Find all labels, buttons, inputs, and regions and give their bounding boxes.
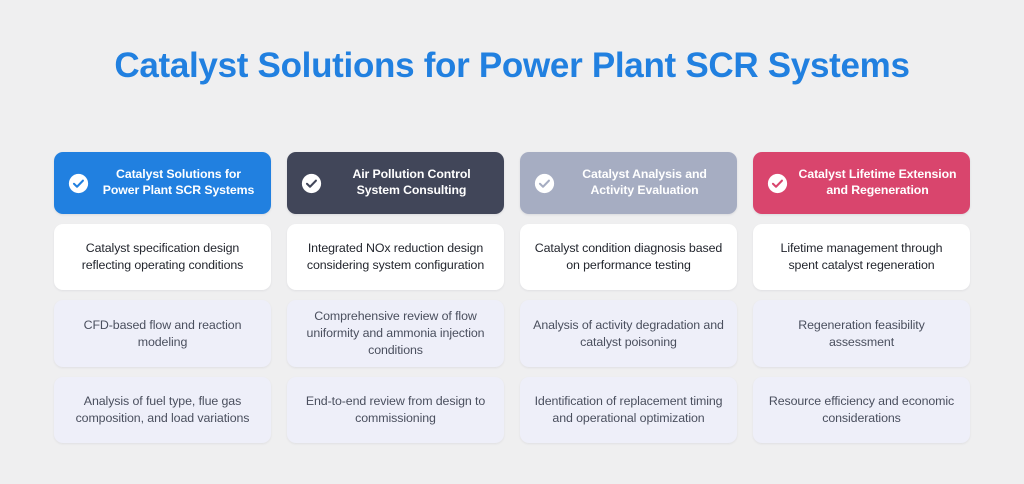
check-circle-icon xyxy=(767,173,788,194)
matrix-cell: Integrated NOx reduction design consider… xyxy=(287,224,504,290)
matrix-cell: Catalyst condition diagnosis based on pe… xyxy=(520,224,737,290)
matrix-cell: CFD-based flow and reaction modeling xyxy=(54,300,271,367)
check-circle-icon xyxy=(534,173,555,194)
column-header-label: Air Pollution Control System Consulting xyxy=(331,167,492,198)
matrix-cell: Catalyst specification design reflecting… xyxy=(54,224,271,290)
title-container: Catalyst Solutions for Power Plant SCR S… xyxy=(0,0,1024,86)
matrix-cell: Comprehensive review of flow uniformity … xyxy=(287,300,504,367)
column-header-lifetime-extension[interactable]: Catalyst Lifetime Extension and Regenera… xyxy=(753,152,970,214)
matrix-cell: Analysis of activity degradation and cat… xyxy=(520,300,737,367)
matrix-cell: Lifetime management through spent cataly… xyxy=(753,224,970,290)
column-header-label: Catalyst Lifetime Extension and Regenera… xyxy=(797,167,958,198)
matrix-cell: Regeneration feasibility assessment xyxy=(753,300,970,367)
page-title: Catalyst Solutions for Power Plant SCR S… xyxy=(0,47,1024,86)
column-header-label: Catalyst Analysis and Activity Evaluatio… xyxy=(564,167,725,198)
column-header-catalyst-analysis[interactable]: Catalyst Analysis and Activity Evaluatio… xyxy=(520,152,737,214)
matrix-cell: End-to-end review from design to commiss… xyxy=(287,377,504,443)
check-circle-icon xyxy=(301,173,322,194)
infographic-page: Catalyst Solutions for Power Plant SCR S… xyxy=(0,0,1024,484)
column-header-label: Catalyst Solutions for Power Plant SCR S… xyxy=(98,167,259,198)
column-header-air-pollution-control[interactable]: Air Pollution Control System Consulting xyxy=(287,152,504,214)
matrix-cell: Analysis of fuel type, flue gas composit… xyxy=(54,377,271,443)
column-header-catalyst-solutions[interactable]: Catalyst Solutions for Power Plant SCR S… xyxy=(54,152,271,214)
check-circle-icon xyxy=(68,173,89,194)
matrix-cell: Resource efficiency and economic conside… xyxy=(753,377,970,443)
matrix-cell: Identification of replacement timing and… xyxy=(520,377,737,443)
comparison-matrix: Catalyst Solutions for Power Plant SCR S… xyxy=(54,152,970,443)
